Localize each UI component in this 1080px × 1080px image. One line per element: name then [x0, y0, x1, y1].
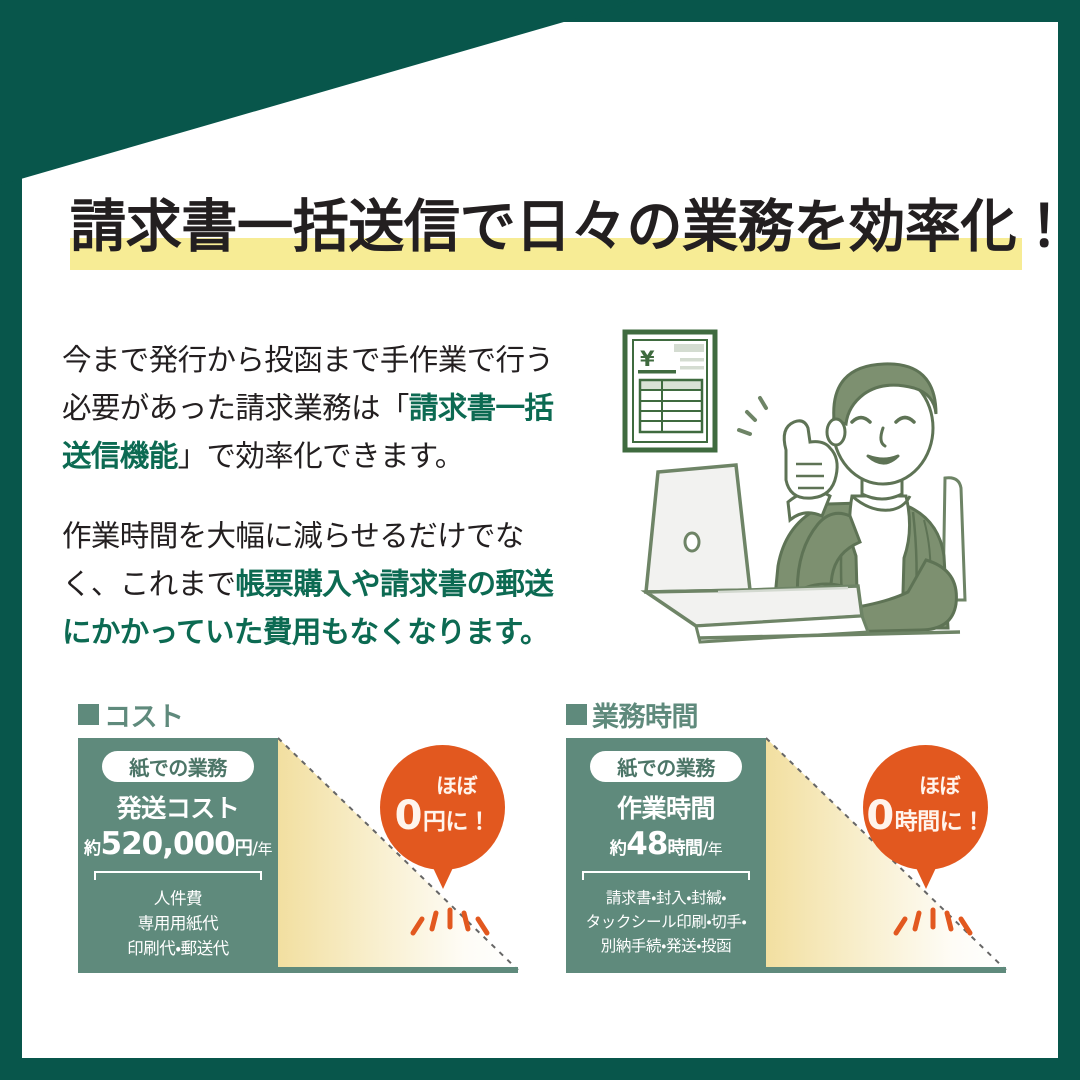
comparison-panel-cost: コスト 紙での業務 発送コスト 約520,000円/年 人件費 専用用紙代 印刷…	[70, 695, 530, 985]
metric-number-cost: 520,000	[101, 826, 235, 862]
card-bracket-time	[582, 871, 750, 880]
metric-prefix-cost: 約	[84, 839, 101, 859]
card-item: 請求書・封入・封緘・	[566, 886, 766, 910]
result-balloon-cost: ほぼ 0円に！	[380, 745, 520, 945]
card-item: 専用用紙代	[78, 911, 278, 936]
metric-period-time: 年	[708, 840, 723, 858]
balloon-line1-time: ほぼ	[919, 775, 960, 797]
infographic-poster: 請求書一括送信で日々の業務を効率化！ 今まで発行から投函まで手作業で行う必要があ…	[0, 0, 1080, 1080]
metric-number-time: 48	[626, 826, 667, 862]
metric-value-cost: 約520,000円/年	[78, 826, 278, 862]
paper-workflow-card-cost: 紙での業務 発送コスト 約520,000円/年 人件費 専用用紙代 印刷代・郵送…	[78, 738, 278, 970]
sparkle-marks	[739, 398, 766, 434]
card-pill-cost: 紙での業務	[102, 751, 254, 782]
square-bullet-icon	[566, 704, 587, 725]
panel-heading-label: 業務時間	[592, 695, 698, 734]
balloon-zero-time: 0	[866, 798, 893, 834]
balloon-bubble-time: ほぼ 0時間に！	[863, 745, 988, 870]
panel-baseline-cost	[78, 967, 518, 973]
panel-heading-cost: コスト	[78, 695, 184, 734]
balloon-line2-cost: 0円に！	[395, 798, 491, 840]
balloon-zero-cost: 0	[395, 798, 422, 834]
metric-label-cost: 発送コスト	[78, 789, 278, 825]
svg-text:¥: ¥	[640, 347, 655, 371]
burst-lines-time	[888, 903, 978, 937]
card-item: タックシール印刷・切手・	[566, 910, 766, 934]
title-text: 請求書一括送信で日々の業務を効率化！	[70, 196, 1008, 258]
metric-unit-cost: 円	[235, 838, 253, 859]
comparison-section: コスト 紙での業務 発送コスト 約520,000円/年 人件費 専用用紙代 印刷…	[0, 695, 1080, 995]
comparison-panel-time: 業務時間 紙での業務 作業時間 約48時間/年 請求書・封入・封緘・ タックシー…	[558, 695, 1018, 985]
card-bracket-cost	[94, 871, 262, 880]
body-paragraph-2: 作業時間を大幅に減らせるだけでなく、これまで帳票購入や請求書の郵送にかかっていた…	[62, 512, 567, 656]
balloon-tail-cost: 円に！	[423, 804, 491, 840]
card-item: 人件費	[78, 886, 278, 911]
metric-value-time: 約48時間/年	[566, 826, 766, 862]
frame-border-bottom	[0, 1058, 1080, 1080]
paper-workflow-card-time: 紙での業務 作業時間 約48時間/年 請求書・封入・封緘・ タックシール印刷・切…	[566, 738, 766, 970]
burst-lines-cost	[405, 903, 495, 937]
card-items-cost: 人件費 専用用紙代 印刷代・郵送代	[78, 886, 278, 961]
metric-prefix-time: 約	[610, 839, 627, 859]
result-balloon-time: ほぼ 0時間に！	[863, 745, 1003, 945]
card-item: 印刷代・郵送代	[78, 936, 278, 961]
metric-label-time: 作業時間	[566, 789, 766, 825]
balloon-bubble-cost: ほぼ 0円に！	[380, 745, 505, 870]
panel-heading-label: コスト	[104, 695, 184, 734]
balloon-tail-time: 時間に！	[895, 804, 985, 840]
invoice-document-icon: ¥	[625, 332, 715, 450]
metric-unit-time: 時間	[667, 838, 702, 859]
card-item: 別納手続・発送・投函	[566, 934, 766, 958]
page-title: 請求書一括送信で日々の業務を効率化！	[70, 196, 1022, 274]
panel-baseline-time	[566, 967, 1006, 973]
card-pill-time: 紙での業務	[590, 751, 742, 782]
corner-wedge-decoration	[0, 0, 640, 185]
balloon-line1-cost: ほぼ	[436, 775, 477, 797]
metric-period-cost: 年	[257, 840, 272, 858]
paragraph-1-tail: 」で効率化できます。	[178, 439, 464, 473]
square-bullet-icon	[78, 704, 99, 725]
balloon-line2-time: 0時間に！	[866, 798, 984, 840]
body-copy: 今まで発行から投函まで手作業で行う必要があった請求業務は「請求書一括送信機能」で…	[62, 336, 567, 656]
body-paragraph-1: 今まで発行から投函まで手作業で行う必要があった請求業務は「請求書一括送信機能」で…	[62, 336, 567, 480]
hero-illustration: ¥	[600, 320, 1000, 660]
panel-heading-time: 業務時間	[566, 695, 698, 734]
card-items-time: 請求書・封入・封緘・ タックシール印刷・切手・ 別納手続・発送・投函	[566, 886, 766, 958]
